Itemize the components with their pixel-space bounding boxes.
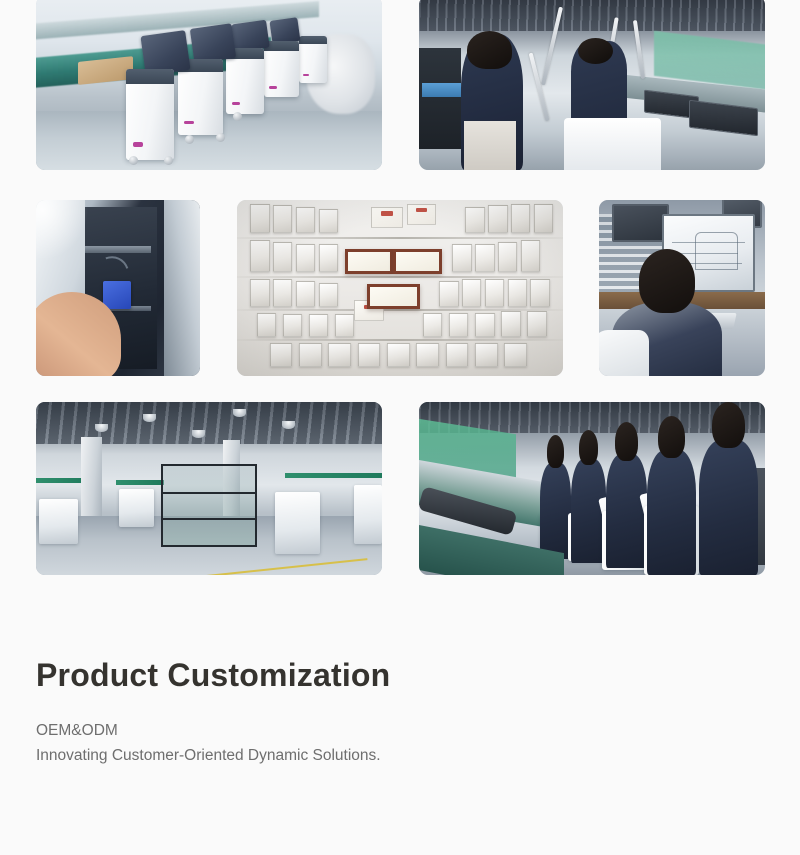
gallery-tile-cad-engineer[interactable] xyxy=(599,200,765,376)
photo-arm-assembly xyxy=(419,0,765,170)
photo-assembly-team xyxy=(419,402,765,575)
gallery-tile-factory-floor[interactable] xyxy=(36,402,382,575)
gallery-tile-production-line[interactable] xyxy=(36,0,382,170)
photo-production-line xyxy=(36,0,382,170)
gallery-tile-assembly-team[interactable] xyxy=(419,402,765,575)
section-tagline: Innovating Customer-Oriented Dynamic Sol… xyxy=(36,743,736,768)
photo-cad-engineer xyxy=(599,200,765,376)
section-subtitle: OEM&ODM xyxy=(36,718,736,743)
product-customization-section: Product Customization OEM&ODM Innovating… xyxy=(36,656,736,768)
photo-internal-wiring xyxy=(36,200,200,376)
photo-certificate-wall xyxy=(237,200,563,376)
page-title: Product Customization xyxy=(36,656,736,695)
photo-factory-floor xyxy=(36,402,382,575)
gallery-tile-certificate-wall[interactable] xyxy=(237,200,563,376)
gallery-tile-arm-assembly[interactable] xyxy=(419,0,765,170)
gallery-tile-internal-wiring[interactable] xyxy=(36,200,200,376)
